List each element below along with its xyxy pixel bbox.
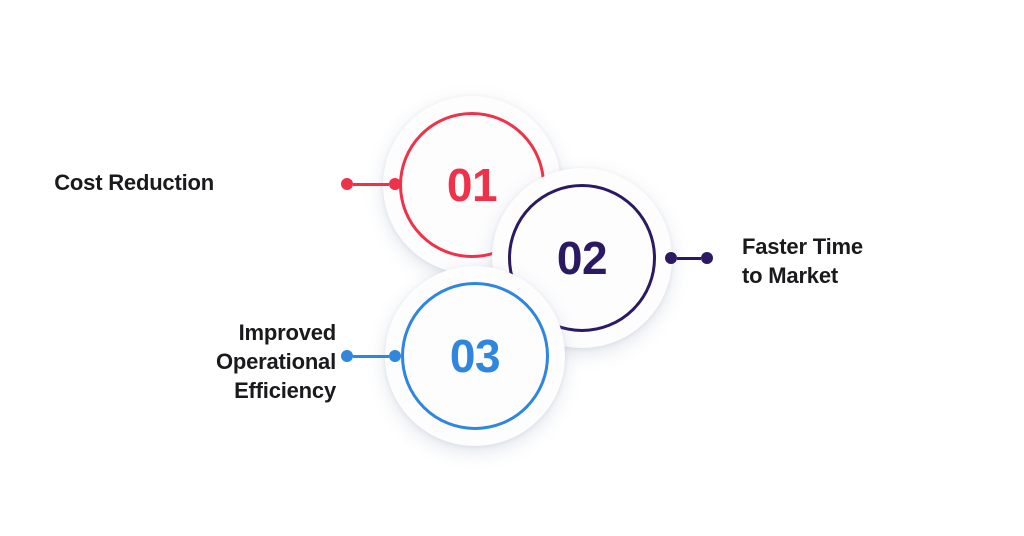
infographic-canvas: 01 02 03 Cost Reduction Faster Time to M…: [0, 0, 1024, 536]
step-label-02: Faster Time to Market: [742, 232, 863, 290]
connector-bar-03: [353, 355, 389, 358]
step-label-03: Improved Operational Efficiency: [216, 318, 336, 405]
connector-dot-circle-03: [389, 350, 401, 362]
connector-dot-label-01: [341, 178, 353, 190]
connector-dot-label-02: [701, 252, 713, 264]
connector-line-02: [665, 250, 713, 266]
step-number-03: 03: [450, 333, 500, 379]
connector-line-03: [341, 348, 401, 364]
connector-bar-01: [353, 183, 389, 186]
step-circle-03[interactable]: 03: [385, 266, 565, 446]
step-label-01: Cost Reduction: [54, 168, 214, 197]
connector-dot-circle-02: [665, 252, 677, 264]
step-number-02: 02: [557, 235, 607, 281]
step-number-01: 01: [447, 162, 497, 208]
connector-dot-circle-01: [389, 178, 401, 190]
connector-bar-02: [677, 257, 701, 260]
connector-dot-label-03: [341, 350, 353, 362]
connector-line-01: [341, 176, 401, 192]
